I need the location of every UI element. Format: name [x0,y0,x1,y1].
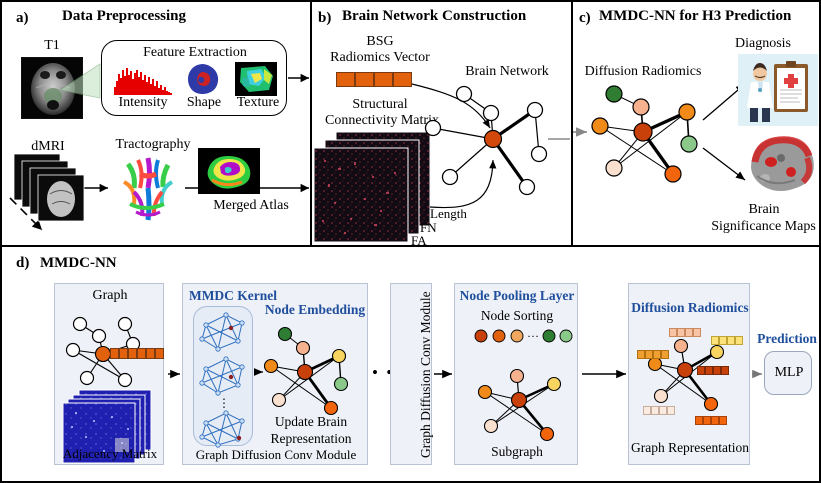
panel-d-arrows [2,247,821,483]
dmri-slice-stack [14,154,88,222]
brain-network-graph [312,2,571,245]
diagnosis-illustration [738,54,818,126]
merged-atlas-image [198,148,260,194]
figure-root: a) Data Preprocessing T1 [0,0,821,483]
panel-b: b) Brain Network Construction BSG Radiom… [312,2,571,245]
tractography-image [110,152,186,224]
panel-a: a) Data Preprocessing T1 [2,2,310,245]
merged-atlas-label: Merged Atlas [198,198,304,214]
tractography-label: Tractography [105,137,201,153]
panel-c: c) MMDC-NN for H3 Prediction Diffusion R… [573,2,821,245]
panel-d: d) MMDC-NN Graph [2,247,821,483]
brain-significance-map [741,132,821,200]
dmri-label: dMRI [18,139,78,155]
